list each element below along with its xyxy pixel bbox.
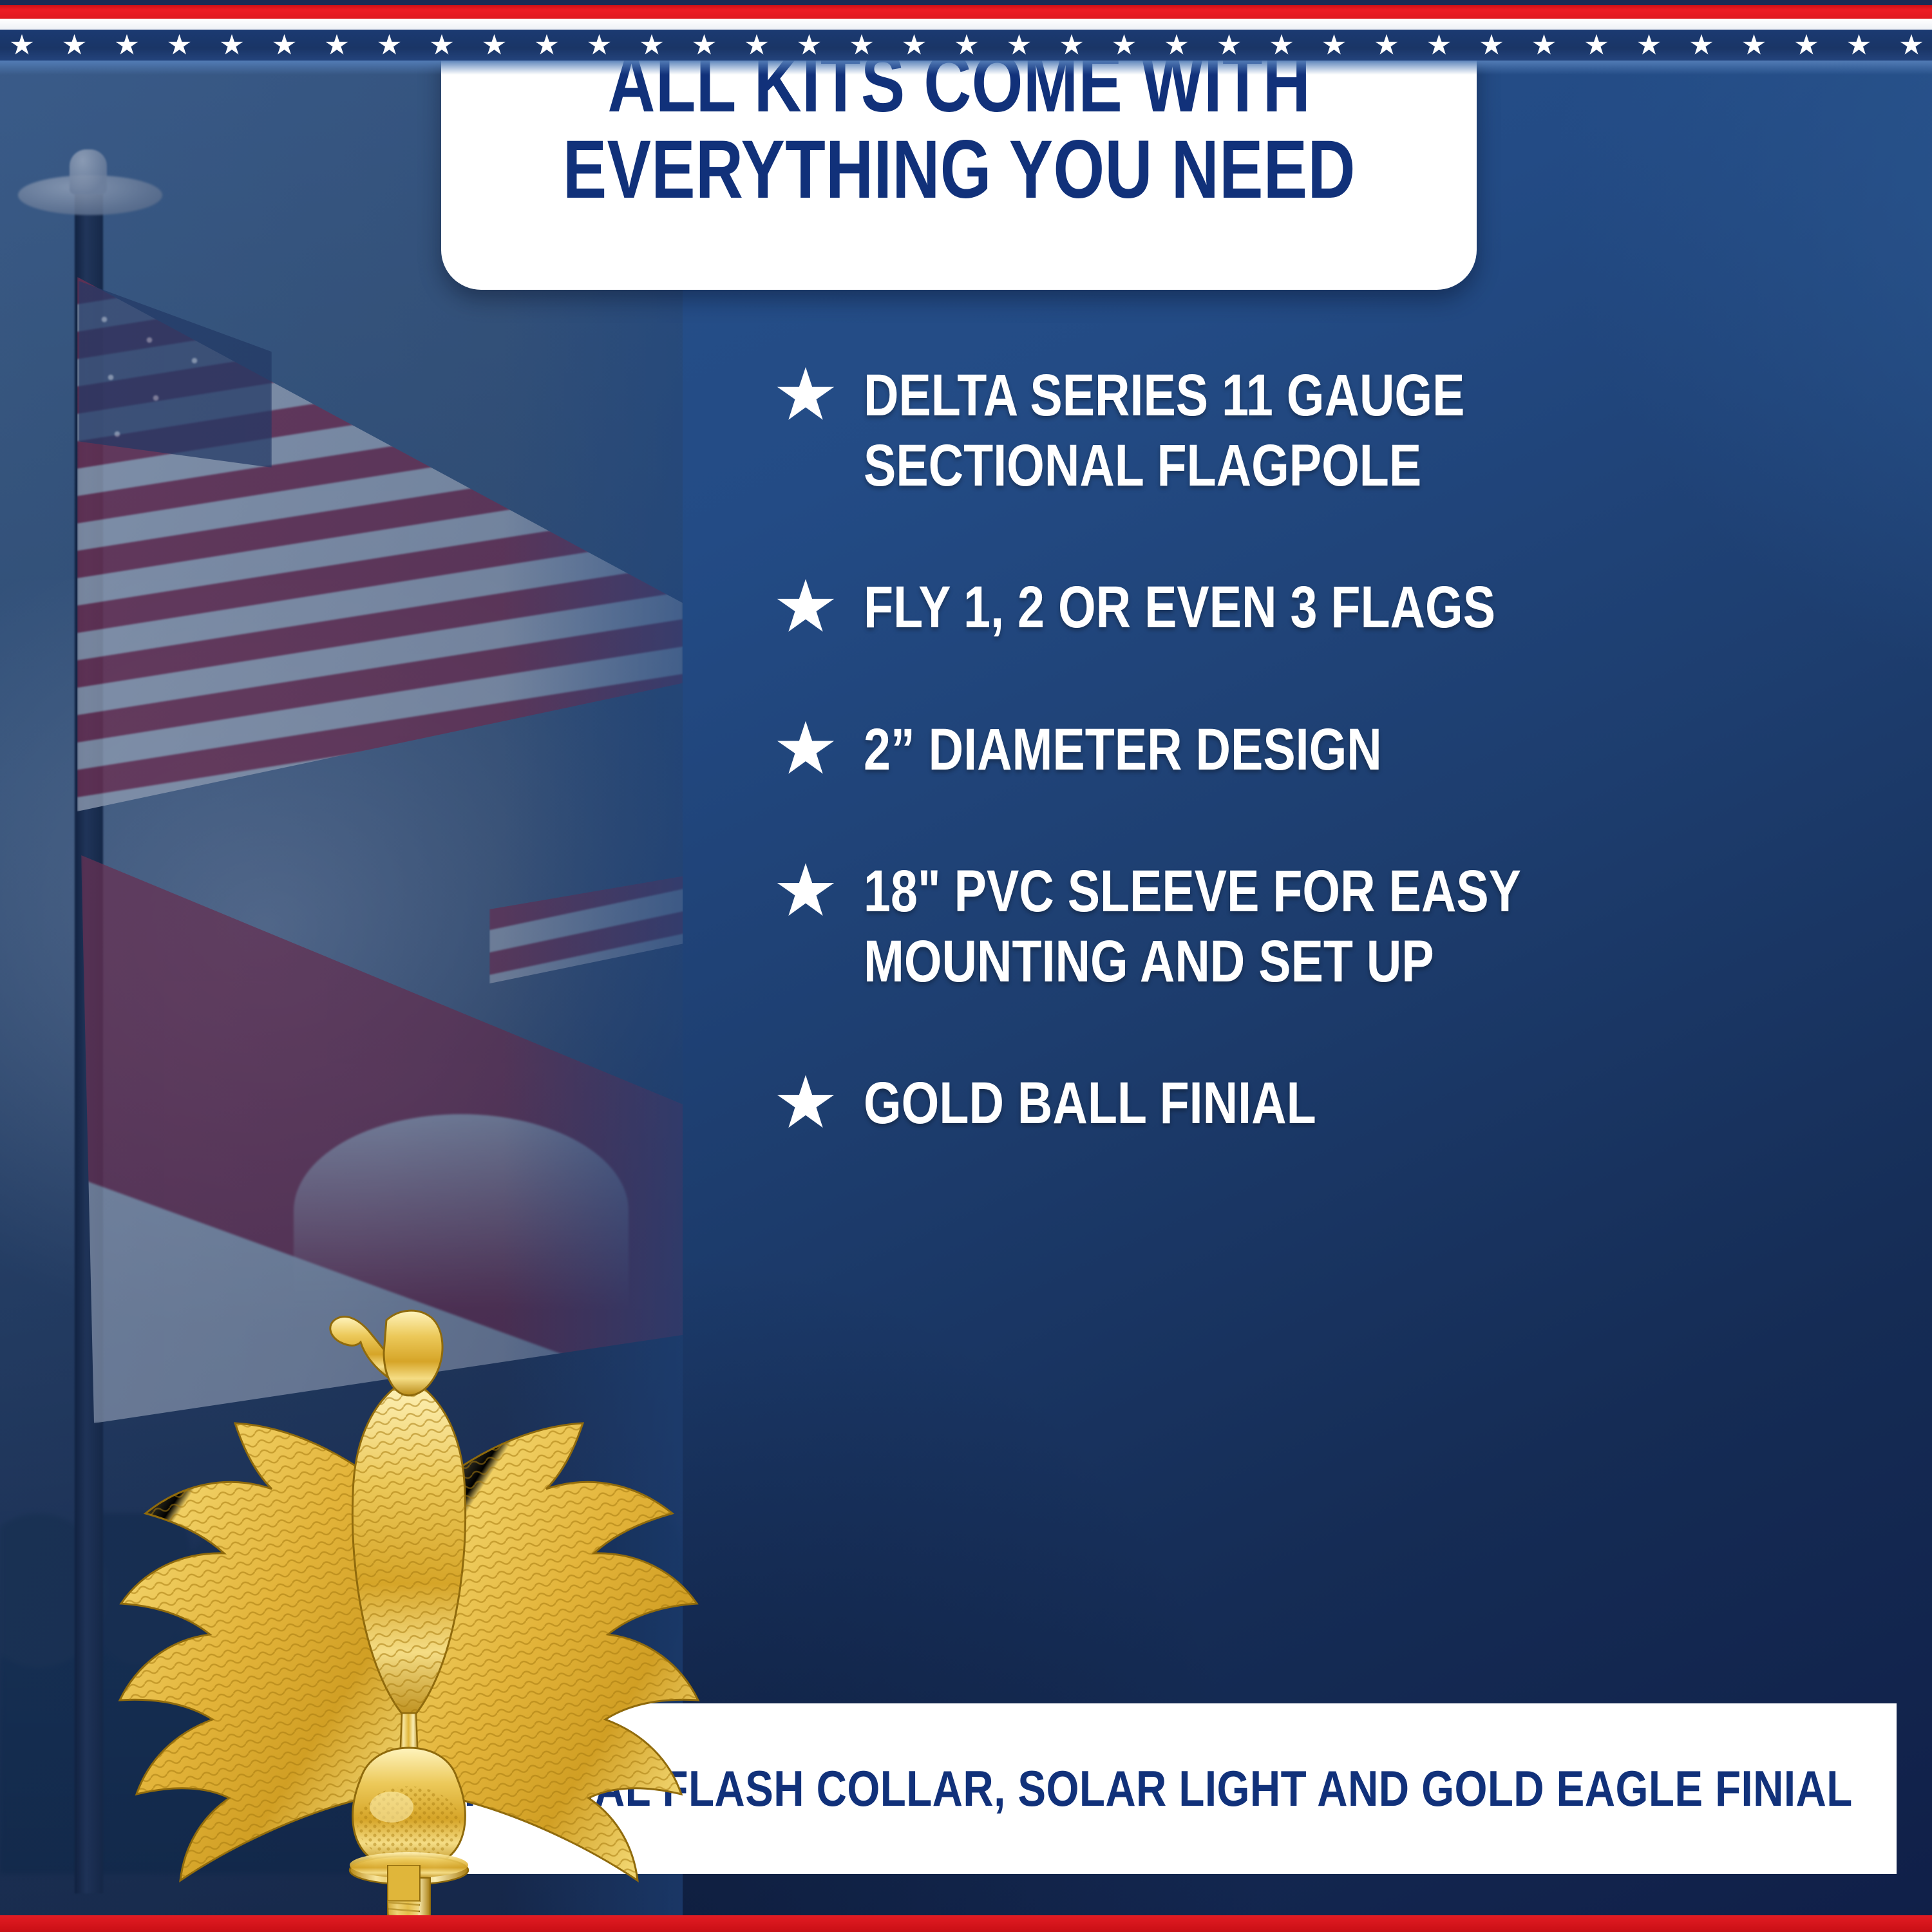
border-star-icon — [903, 34, 926, 56]
border-star-icon — [1218, 34, 1241, 56]
border-star-icon — [378, 34, 401, 56]
border-star-icon — [588, 34, 611, 56]
border-star-field — [0, 30, 1932, 61]
gold-ball-ornament — [353, 1748, 466, 1867]
border-star-icon — [798, 34, 821, 56]
feature-item: 18" PVC SLEEVE FOR EASY MOUNTING AND SET… — [776, 857, 1871, 996]
border-star-icon — [483, 34, 506, 56]
header-title-line-2: EVERYTHING YOU NEED — [563, 127, 1356, 213]
border-bottom-fade — [0, 61, 1932, 75]
feature-item: FLY 1, 2 OR EVEN 3 FLAGS — [776, 573, 1871, 643]
border-star-icon — [1585, 34, 1608, 56]
top-decorative-border — [0, 0, 1932, 67]
border-star-icon — [1638, 34, 1661, 56]
feature-item-label: 18" PVC SLEEVE FOR EASY MOUNTING AND SET… — [864, 857, 1689, 996]
border-star-icon — [1270, 34, 1293, 56]
border-star-icon — [1795, 34, 1818, 56]
border-star-icon — [325, 34, 348, 56]
border-star-icon — [1690, 34, 1713, 56]
feature-item-label: GOLD BALL FINIAL — [864, 1068, 1689, 1139]
promo-graphic: ALL KITS COME WITH EVERYTHING YOU NEED D… — [0, 0, 1932, 1932]
border-star-icon — [1743, 34, 1766, 56]
border-star-icon — [273, 34, 296, 56]
bottom-decorative-border — [0, 1915, 1932, 1932]
star-icon — [776, 1075, 835, 1132]
border-star-icon — [1323, 34, 1346, 56]
border-star-icon — [693, 34, 716, 56]
border-star-icon — [955, 34, 978, 56]
feature-list: DELTA SERIES 11 GAUGE SECTIONAL FLAGPOLE… — [776, 361, 1871, 1139]
feature-item: DELTA SERIES 11 GAUGE SECTIONAL FLAGPOLE — [776, 361, 1871, 500]
feature-item: 2” DIAMETER DESIGN — [776, 715, 1871, 785]
border-star-icon — [168, 34, 191, 56]
border-star-icon — [1113, 34, 1136, 56]
border-star-icon — [115, 34, 138, 56]
border-star-icon — [535, 34, 558, 56]
border-star-icon — [1165, 34, 1188, 56]
feature-item: GOLD BALL FINIAL — [776, 1068, 1871, 1139]
border-star-icon — [745, 34, 768, 56]
border-red-stripe — [0, 5, 1932, 19]
eagle-head — [330, 1311, 442, 1396]
border-star-icon — [1428, 34, 1451, 56]
border-star-icon — [1480, 34, 1503, 56]
star-icon — [776, 367, 835, 424]
border-star-icon — [430, 34, 453, 56]
border-star-icon — [1900, 34, 1923, 56]
star-icon — [776, 579, 835, 636]
border-star-icon — [1008, 34, 1031, 56]
border-star-icon — [10, 34, 33, 56]
border-navy-edge — [0, 0, 1932, 5]
star-icon — [776, 721, 835, 778]
star-icon — [776, 863, 835, 920]
gold-eagle-finial-image — [84, 1301, 734, 1919]
border-star-icon — [63, 34, 86, 56]
border-white-stripe — [0, 19, 1932, 30]
border-star-icon — [640, 34, 663, 56]
feature-item-label: 2” DIAMETER DESIGN — [864, 715, 1689, 785]
border-star-icon — [1060, 34, 1083, 56]
border-star-icon — [1533, 34, 1556, 56]
border-star-icon — [1375, 34, 1398, 56]
border-star-icon — [850, 34, 873, 56]
border-star-icon — [1848, 34, 1871, 56]
feature-item-label: DELTA SERIES 11 GAUGE SECTIONAL FLAGPOLE — [864, 361, 1689, 500]
feature-item-label: FLY 1, 2 OR EVEN 3 FLAGS — [864, 573, 1689, 643]
border-star-icon — [220, 34, 243, 56]
